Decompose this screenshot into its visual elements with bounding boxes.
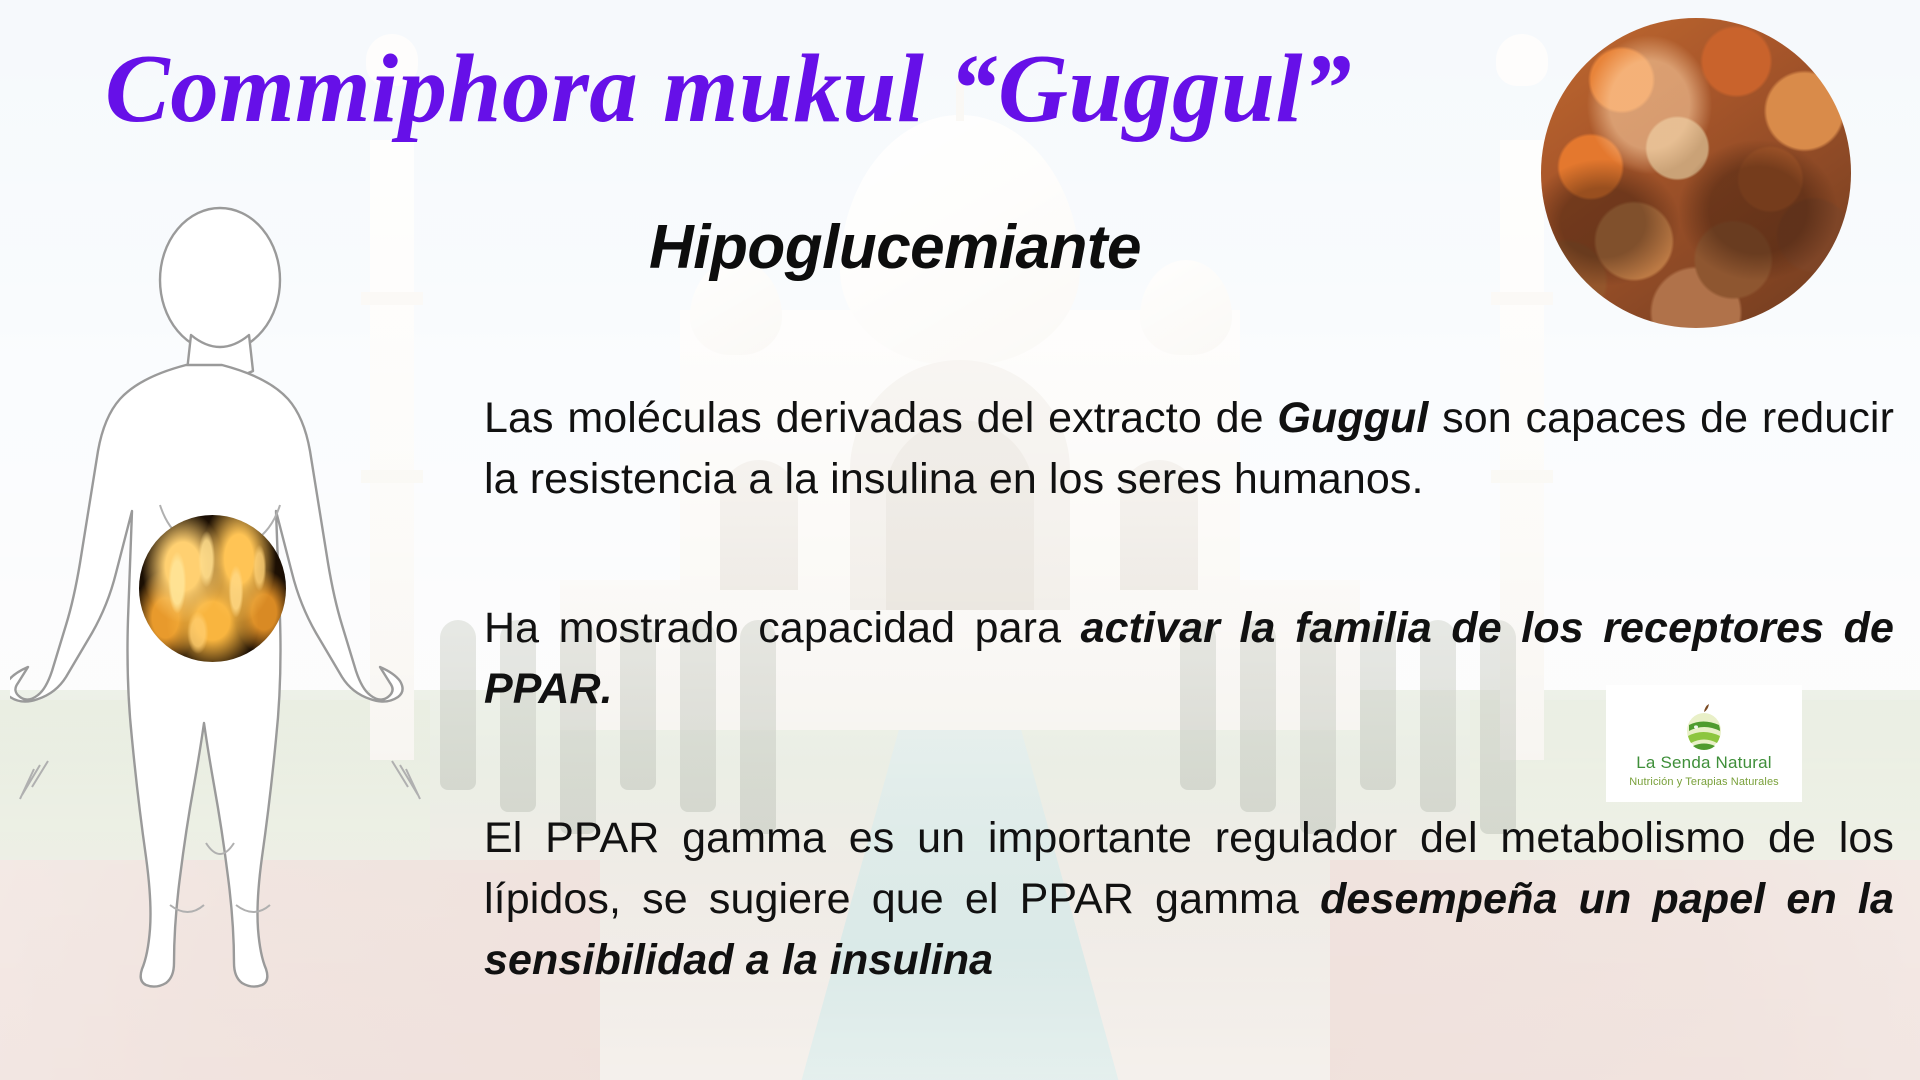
la-senda-natural-logo: La Senda Natural Nutrición y Terapias Na…	[1606, 685, 1802, 802]
body-text: Las moléculas derivadas del extracto de	[484, 394, 1277, 442]
logo-tagline: Nutrición y Terapias Naturales	[1629, 776, 1779, 788]
paragraph-1: Las moléculas derivadas del extracto de …	[484, 388, 1894, 510]
guggul-resin-photo	[1541, 18, 1851, 328]
slide-title: Commiphora mukul “Guggul”	[105, 38, 1535, 140]
emphasis-text: Guggul	[1277, 394, 1428, 442]
flame-highlights	[139, 515, 286, 662]
resin-highlights	[1541, 18, 1851, 328]
logo-name: La Senda Natural	[1636, 753, 1772, 773]
striped-apple-icon	[1681, 703, 1727, 751]
paragraph-3: El PPAR gamma es un importante regulador…	[484, 808, 1894, 991]
fire-abdomen-photo	[139, 515, 286, 662]
body-text: Ha mostrado capacidad para	[484, 604, 1081, 652]
